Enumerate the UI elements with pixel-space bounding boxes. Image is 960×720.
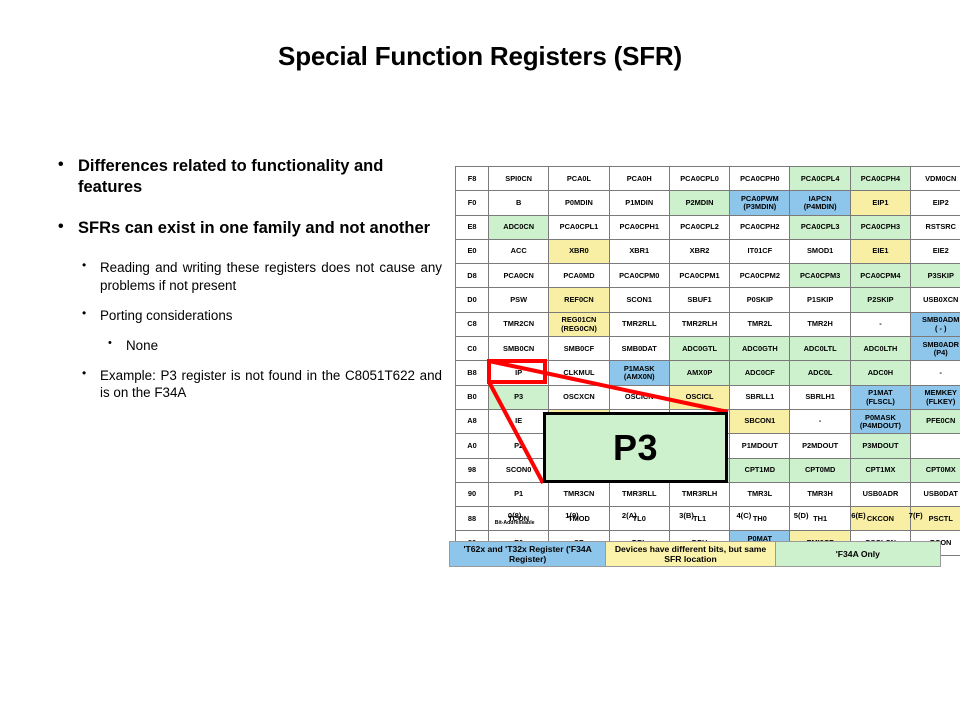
sfr-cell[interactable]: SPI0CN (489, 167, 549, 191)
bullet-text: Differences related to functionality and… (78, 157, 383, 196)
sfr-cell-name: P2MDIN (686, 198, 714, 207)
sfr-cell[interactable]: SMOD1 (790, 239, 850, 263)
sfr-cell[interactable]: P1MAT(FLSCL) (850, 385, 910, 409)
sfr-cell-name: IP (515, 368, 522, 377)
sfr-cell-alt-name: ( - ) (912, 325, 960, 333)
sfr-cell-name: CPT1MD (745, 465, 775, 474)
sfr-cell[interactable]: XBR0 (549, 239, 609, 263)
sfr-cell[interactable]: TMR2CN (489, 312, 549, 336)
legend-item: 'F34A Only (776, 542, 940, 566)
sfr-cell[interactable]: PCA0CPM0 (609, 264, 669, 288)
sfr-table: F8SPI0CNPCA0LPCA0HPCA0CPL0PCA0CPH0PCA0CP… (455, 166, 960, 556)
bullet-text: None (126, 338, 158, 353)
sfr-cell[interactable]: P0MASK(P4MDOUT) (850, 409, 910, 433)
sfr-column-label: 6(E) (830, 512, 887, 527)
sfr-row-address: E8 (456, 215, 489, 239)
sfr-cell-name: TMR2L (748, 319, 773, 328)
sfr-cell-name: PCA0CPL0 (680, 174, 719, 183)
sfr-cell-name: P0MDIN (565, 198, 593, 207)
sfr-cell[interactable]: P0SKIP (730, 288, 790, 312)
sfr-cell-name: SCON0 (506, 465, 531, 474)
sfr-cell-name: SPI0CN (505, 174, 532, 183)
sfr-cell[interactable]: PCA0CPL3 (790, 215, 850, 239)
sfr-cell[interactable]: ACC (489, 239, 549, 263)
sfr-cell[interactable]: OSCICN (609, 385, 669, 409)
sfr-cell[interactable]: PFE0CN (911, 409, 960, 433)
sfr-cell[interactable]: P1SKIP (790, 288, 850, 312)
sfr-cell[interactable]: P1MDIN (609, 191, 669, 215)
sfr-cell-alt-name: (P3MDIN) (731, 203, 788, 211)
sfr-column-label-text: 6(E) (851, 511, 865, 520)
sfr-cell-name: P3MDOUT (862, 441, 898, 450)
sfr-cell[interactable]: SMB0CN (489, 337, 549, 361)
sfr-cell-name: PCA0CPL3 (801, 222, 840, 231)
sfr-cell[interactable]: RSTSRC (911, 215, 960, 239)
sfr-column-label: 7(F) (887, 512, 944, 527)
sfr-cell[interactable]: PCA0CPL2 (669, 215, 729, 239)
slide-canvas: Special Function Registers (SFR) •Differ… (0, 0, 960, 720)
sfr-cell-name: IE (515, 416, 522, 425)
sfr-cell-name: IT01CF (748, 246, 773, 255)
table-row: B8IPCLKMULP1MASK(AMX0N)AMX0PADC0CFADC0LA… (456, 361, 960, 385)
sfr-cell-name: RSTSRC (926, 222, 956, 231)
sfr-cell-name: PCA0CPH3 (861, 222, 900, 231)
sfr-cell[interactable]: TMR2RLH (669, 312, 729, 336)
sfr-cell[interactable]: - (911, 361, 960, 385)
sfr-cell-name: ADC0CF (745, 368, 775, 377)
sfr-cell-name: TMR3RLH (682, 489, 717, 498)
sfr-cell[interactable]: SCON1 (609, 288, 669, 312)
sfr-cell-name: PCA0CPH1 (620, 222, 659, 231)
sfr-cell[interactable]: ADC0LTL (790, 337, 850, 361)
sfr-cell[interactable]: PCA0CPH4 (850, 167, 910, 191)
sfr-row-address: B0 (456, 385, 489, 409)
sfr-cell-name: PCA0CPL4 (801, 174, 840, 183)
sfr-cell-name: OSCXCN (563, 392, 595, 401)
sfr-cell[interactable]: PCA0CPM2 (730, 264, 790, 288)
sfr-cell[interactable]: XBR1 (609, 239, 669, 263)
sfr-column-label: 4(C) (715, 512, 772, 527)
sfr-cell[interactable]: TMR2RLL (609, 312, 669, 336)
sfr-cell[interactable]: TMR3RLL (609, 482, 669, 506)
bullet-dot-icon: • (108, 336, 112, 351)
sfr-cell[interactable]: - (790, 409, 850, 433)
table-row: E0ACCXBR0XBR1XBR2IT01CFSMOD1EIE1EIE2 (456, 239, 960, 263)
sfr-cell-name: XBR1 (629, 246, 649, 255)
sfr-table-container: F8SPI0CNPCA0LPCA0HPCA0CPL0PCA0CPH0PCA0CP… (455, 166, 944, 556)
sfr-cell[interactable]: USB0DAT (911, 482, 960, 506)
sfr-cell[interactable]: PCA0MD (549, 264, 609, 288)
sfr-cell[interactable]: PCA0CPH2 (730, 215, 790, 239)
sfr-column-label-text: 7(F) (909, 511, 923, 520)
legend-item-label: 'T62x and 'T32x Register ('F34A Register… (450, 544, 605, 565)
sfr-cell[interactable]: P3 (489, 385, 549, 409)
sfr-cell-name: TMR3L (748, 489, 773, 498)
sfr-cell[interactable]: IT01CF (730, 239, 790, 263)
sfr-cell-name: AMX0P (687, 368, 712, 377)
sfr-cell-name: VDM0CN (925, 174, 956, 183)
legend-item-label: Devices have different bits, but same SF… (606, 544, 774, 565)
sfr-cell-name: CPT1MX (865, 465, 895, 474)
sfr-cell-name: PCA0CPM3 (800, 271, 840, 280)
table-row: C0SMB0CNSMB0CFSMB0DATADC0GTLADC0GTHADC0L… (456, 337, 960, 361)
sfr-row-address: D0 (456, 288, 489, 312)
sfr-cell[interactable]: P2SKIP (850, 288, 910, 312)
sfr-column-label-text: 4(C) (736, 511, 751, 520)
sfr-cell-name: SMB0DAT (622, 344, 657, 353)
sfr-cell-empty (911, 434, 960, 458)
sfr-cell[interactable]: EIP2 (911, 191, 960, 215)
sfr-cell-alt-name: (FLKEY) (912, 398, 960, 406)
bullet-item: •SFRs can exist in one family and not an… (52, 218, 442, 239)
sfr-cell-name: CPT0MX (926, 465, 956, 474)
sfr-cell[interactable]: SCON0 (489, 458, 549, 482)
sfr-column-label: 2(A) (601, 512, 658, 527)
bullet-text: SFRs can exist in one family and not ano… (78, 219, 430, 237)
bullet-dot-icon: • (82, 306, 86, 322)
sfr-column-note: Bit-Addressable (486, 521, 543, 527)
sfr-cell[interactable]: CLKMUL (549, 361, 609, 385)
sfr-cell[interactable]: USB0ADR (850, 482, 910, 506)
sfr-cell[interactable]: VDM0CN (911, 167, 960, 191)
sfr-cell-name: P0SKIP (747, 295, 773, 304)
sfr-column-label-text: 3(B) (679, 511, 694, 520)
sfr-cell[interactable]: TMR3L (730, 482, 790, 506)
sfr-cell-name: P1SKIP (807, 295, 833, 304)
sfr-cell[interactable]: ADC0LTH (850, 337, 910, 361)
sfr-row-address: F0 (456, 191, 489, 215)
sfr-cell-alt-name: (P4) (912, 349, 960, 357)
sfr-cell-name: ADC0H (868, 368, 893, 377)
sfr-cell[interactable]: OSCICL (669, 385, 729, 409)
table-row: D0PSWREF0CNSCON1SBUF1P0SKIPP1SKIPP2SKIPU… (456, 288, 960, 312)
sfr-cell[interactable]: SBCON1 (730, 409, 790, 433)
sfr-cell[interactable]: SMB0DAT (609, 337, 669, 361)
bullet-text: Example: P3 register is not found in the… (100, 368, 442, 401)
sfr-cell[interactable]: TMR2L (730, 312, 790, 336)
sfr-cell-name: SBRLH1 (805, 392, 835, 401)
sfr-cell-name: P1MDIN (625, 198, 653, 207)
sfr-cell-name: ADC0L (808, 368, 833, 377)
sfr-cell-name: - (879, 319, 881, 328)
sfr-cell-name: PCA0CPM1 (679, 271, 719, 280)
sfr-cell[interactable]: B (489, 191, 549, 215)
sfr-cell[interactable]: SMB0ADM( - ) (911, 312, 960, 336)
sfr-row-address: C8 (456, 312, 489, 336)
sfr-cell[interactable]: IAPCN(P4MDIN) (790, 191, 850, 215)
sfr-cell-name: PCA0L (567, 174, 591, 183)
sfr-cell-name: PCA0CPM2 (740, 271, 780, 280)
sfr-cell-name: XBR2 (690, 246, 710, 255)
sfr-cell[interactable]: PCA0CPM3 (790, 264, 850, 288)
sfr-cell-name: P1MDOUT (742, 441, 778, 450)
sfr-cell[interactable]: REG01CN(REG0CN) (549, 312, 609, 336)
sfr-cell-name: SBCON1 (744, 416, 775, 425)
sfr-cell[interactable]: P0MDIN (549, 191, 609, 215)
sfr-cell[interactable]: PCA0CPL0 (669, 167, 729, 191)
sfr-cell[interactable]: PCA0CPH1 (609, 215, 669, 239)
bullet-dot-icon: • (82, 258, 86, 274)
sfr-cell-name: - (819, 416, 821, 425)
sfr-cell-name: PFE0CN (926, 416, 955, 425)
sfr-cell-name: USB0ADR (863, 489, 899, 498)
sfr-cell-name: P1MAT (868, 388, 893, 397)
sfr-cell[interactable]: P3SKIP (911, 264, 960, 288)
sfr-cell-name: PCA0H (627, 174, 652, 183)
bullet-item: •Differences related to functionality an… (52, 156, 442, 198)
sfr-cell-name: TMR3H (807, 489, 832, 498)
sfr-cell-name: - (939, 368, 941, 377)
sfr-cell[interactable]: PSW (489, 288, 549, 312)
sfr-cell-name: EIP2 (933, 198, 949, 207)
sfr-cell-name: PCA0CPL1 (560, 222, 599, 231)
sfr-column-label: 5(D) (772, 512, 829, 527)
sfr-cell[interactable]: TMR3H (790, 482, 850, 506)
sfr-cell-name: USB0DAT (924, 489, 958, 498)
sfr-cell[interactable]: ADC0CN (489, 215, 549, 239)
table-row: 90P1TMR3CNTMR3RLLTMR3RLHTMR3LTMR3HUSB0AD… (456, 482, 960, 506)
sfr-cell[interactable]: SBRLL1 (730, 385, 790, 409)
sfr-cell-alt-name: (P4MDOUT) (852, 422, 909, 430)
sfr-cell-name: PCA0CPM4 (860, 271, 900, 280)
legend-item: 'T62x and 'T32x Register ('F34A Register… (450, 542, 606, 566)
sfr-cell-name: CPT0MD (805, 465, 835, 474)
sfr-row-address: 98 (456, 458, 489, 482)
sfr-column-footer: 0(8)Bit-Addressable1(9)2(A)3(B)4(C)5(D)6… (455, 512, 944, 527)
sfr-cell[interactable]: ADC0GTL (669, 337, 729, 361)
sfr-row-address: D8 (456, 264, 489, 288)
bullet-text: Reading and writing these registers does… (100, 260, 442, 293)
sfr-row-address: B8 (456, 361, 489, 385)
sfr-cell-name: TMR2H (807, 319, 832, 328)
bullet-dot-icon: • (58, 217, 64, 237)
sfr-cell[interactable]: MEMKEY(FLKEY) (911, 385, 960, 409)
sfr-cell[interactable]: SMB0ADR(P4) (911, 337, 960, 361)
sfr-cell[interactable]: IP (489, 361, 549, 385)
sfr-cell[interactable]: PCA0CPL4 (790, 167, 850, 191)
sfr-cell-name: REF0CN (564, 295, 594, 304)
sfr-row-address: E0 (456, 239, 489, 263)
sfr-cell[interactable]: TMR3RLH (669, 482, 729, 506)
sfr-cell-name: TMR3CN (564, 489, 595, 498)
sfr-row-address: A0 (456, 434, 489, 458)
sfr-cell[interactable]: OSCXCN (549, 385, 609, 409)
sfr-column-label-text: 2(A) (622, 511, 637, 520)
sfr-cell[interactable]: CPT1MX (850, 458, 910, 482)
sfr-cell[interactable]: SBUF1 (669, 288, 729, 312)
sfr-cell-name: PCA0CN (503, 271, 533, 280)
sfr-cell[interactable]: PCA0L (549, 167, 609, 191)
sfr-cell-name: ADC0LTH (863, 344, 897, 353)
sfr-cell-name: ADC0GTL (682, 344, 717, 353)
sfr-cell-name: P2SKIP (867, 295, 893, 304)
sfr-column-label-text: 5(D) (794, 511, 809, 520)
sfr-cell-name: ADC0LTL (804, 344, 837, 353)
sfr-cell[interactable]: PCA0CPM1 (669, 264, 729, 288)
sfr-cell-name: PCA0CPM0 (619, 271, 659, 280)
sfr-cell[interactable]: REF0CN (549, 288, 609, 312)
sfr-cell[interactable]: SBRLH1 (790, 385, 850, 409)
sfr-cell-name: CLKMUL (563, 368, 594, 377)
bullet-item: •None (52, 337, 442, 355)
sfr-cell[interactable]: - (850, 312, 910, 336)
sfr-cell[interactable]: PCA0CPL1 (549, 215, 609, 239)
sfr-cell-name: USB0XCN (923, 295, 958, 304)
sfr-cell[interactable]: PCA0CPH0 (730, 167, 790, 191)
table-row: E8ADC0CNPCA0CPL1PCA0CPH1PCA0CPL2PCA0CPH2… (456, 215, 960, 239)
sfr-cell-alt-name: (AMX0N) (611, 373, 668, 381)
table-row: F8SPI0CNPCA0LPCA0HPCA0CPL0PCA0CPH0PCA0CP… (456, 167, 960, 191)
sfr-cell[interactable]: P3MDOUT (850, 434, 910, 458)
sfr-cell-name: TMR3RLL (622, 489, 657, 498)
footer-spacer (455, 512, 486, 527)
sfr-cell-name: SMB0CN (503, 344, 534, 353)
sfr-cell-name: ADC0GTH (742, 344, 778, 353)
sfr-column-label: 1(9) (543, 512, 600, 527)
sfr-cell[interactable]: P1MASK(AMX0N) (609, 361, 669, 385)
sfr-cell-name: PCA0CPL2 (680, 222, 719, 231)
sfr-cell-name: EIE1 (872, 246, 888, 255)
sfr-cell-name: ACC (511, 246, 527, 255)
sfr-cell[interactable]: CPT0MD (790, 458, 850, 482)
sfr-cell-name: P3 (514, 392, 523, 401)
sfr-cell-name: TMR2CN (503, 319, 534, 328)
sfr-cell-name: SMB0CF (564, 344, 594, 353)
sfr-cell[interactable]: TMR3CN (549, 482, 609, 506)
sfr-cell[interactable]: TMR2H (790, 312, 850, 336)
sfr-cell-name: P2 (514, 441, 523, 450)
sfr-cell-name: P3SKIP (928, 271, 954, 280)
sfr-cell-name: TMR2RLH (682, 319, 717, 328)
sfr-cell-name: SBUF1 (687, 295, 711, 304)
sfr-cell[interactable]: PCA0CPH3 (850, 215, 910, 239)
sfr-cell[interactable]: P2MDOUT (790, 434, 850, 458)
sfr-cell[interactable]: CPT0MX (911, 458, 960, 482)
bullet-item: •Porting considerations (52, 307, 442, 325)
p3-callout-label: P3 (613, 427, 658, 469)
sfr-column-label: 3(B) (658, 512, 715, 527)
legend-item-label: 'F34A Only (836, 549, 880, 559)
sfr-cell-name: PCA0CPH0 (740, 174, 779, 183)
sfr-cell-name: P2MDOUT (802, 441, 838, 450)
sfr-row-address: F8 (456, 167, 489, 191)
sfr-cell-name: B (516, 198, 521, 207)
sfr-cell-name: EIP1 (872, 198, 888, 207)
sfr-cell[interactable]: PCA0H (609, 167, 669, 191)
sfr-cell-alt-name: (FLSCL) (852, 398, 909, 406)
sfr-cell-name: XBR0 (569, 246, 589, 255)
sfr-cell[interactable]: P1 (489, 482, 549, 506)
sfr-column-label-text: 1(9) (565, 511, 579, 520)
sfr-cell-name: ADC0CN (503, 222, 534, 231)
sfr-legend: 'T62x and 'T32x Register ('F34A Register… (449, 541, 941, 567)
sfr-cell[interactable]: EIP1 (850, 191, 910, 215)
sfr-cell[interactable]: P2 (489, 434, 549, 458)
bullet-dot-icon: • (82, 366, 86, 382)
page-title: Special Function Registers (SFR) (0, 41, 960, 72)
sfr-cell[interactable]: USB0XCN (911, 288, 960, 312)
sfr-row-address: C0 (456, 337, 489, 361)
sfr-row-address: A8 (456, 409, 489, 433)
sfr-cell[interactable]: P2MDIN (669, 191, 729, 215)
table-row: F0BP0MDINP1MDINP2MDINPCA0PWM(P3MDIN)IAPC… (456, 191, 960, 215)
sfr-cell-alt-name: (P4MDIN) (791, 203, 848, 211)
p3-callout-box: P3 (543, 412, 728, 483)
sfr-cell[interactable]: P1MDOUT (730, 434, 790, 458)
sfr-cell[interactable]: CPT1MD (730, 458, 790, 482)
sfr-cell-name: P1 (514, 489, 523, 498)
sfr-cell[interactable]: EIE1 (850, 239, 910, 263)
sfr-cell-name: SCON1 (627, 295, 652, 304)
bullet-item: •Example: P3 register is not found in th… (52, 367, 442, 403)
sfr-column-label-text: 0(8) (508, 511, 522, 520)
table-row: D8PCA0CNPCA0MDPCA0CPM0PCA0CPM1PCA0CPM2PC… (456, 264, 960, 288)
sfr-cell[interactable]: ADC0CF (730, 361, 790, 385)
sfr-cell-name: PSW (510, 295, 527, 304)
sfr-cell[interactable]: ADC0L (790, 361, 850, 385)
sfr-cell[interactable]: PCA0CPM4 (850, 264, 910, 288)
table-row: B0P3OSCXCNOSCICNOSCICLSBRLL1SBRLH1P1MAT(… (456, 385, 960, 409)
sfr-cell[interactable]: XBR2 (669, 239, 729, 263)
sfr-cell-name: PCA0CPH4 (861, 174, 900, 183)
sfr-cell-name: EIE2 (933, 246, 949, 255)
sfr-cell-name: OSCICN (625, 392, 654, 401)
bullet-dot-icon: • (58, 155, 64, 175)
sfr-cell-name: PCA0CPH2 (740, 222, 779, 231)
sfr-column-label: 0(8)Bit-Addressable (486, 512, 543, 527)
sfr-cell-name: OSCICL (686, 392, 714, 401)
sfr-cell[interactable]: AMX0P (669, 361, 729, 385)
bullet-item: •Reading and writing these registers doe… (52, 259, 442, 295)
sfr-cell[interactable]: EIE2 (911, 239, 960, 263)
sfr-cell-name: SMOD1 (807, 246, 833, 255)
sfr-cell[interactable]: SMB0CF (549, 337, 609, 361)
sfr-cell-name: MEMKEY (925, 388, 957, 397)
legend-item: Devices have different bits, but same SF… (606, 542, 775, 566)
sfr-cell[interactable]: ADC0GTH (730, 337, 790, 361)
sfr-cell[interactable]: PCA0PWM(P3MDIN) (730, 191, 790, 215)
bullet-list: •Differences related to functionality an… (52, 156, 442, 414)
sfr-cell[interactable]: ADC0H (850, 361, 910, 385)
sfr-row-address: 90 (456, 482, 489, 506)
sfr-cell-name: PCA0MD (563, 271, 594, 280)
sfr-cell-alt-name: (REG0CN) (550, 325, 607, 333)
sfr-cell-name: TMR2RLL (622, 319, 657, 328)
sfr-cell-name: SBRLL1 (745, 392, 774, 401)
table-row: C8TMR2CNREG01CN(REG0CN)TMR2RLLTMR2RLHTMR… (456, 312, 960, 336)
sfr-cell[interactable]: IE (489, 409, 549, 433)
bullet-text: Porting considerations (100, 308, 233, 323)
sfr-cell[interactable]: PCA0CN (489, 264, 549, 288)
